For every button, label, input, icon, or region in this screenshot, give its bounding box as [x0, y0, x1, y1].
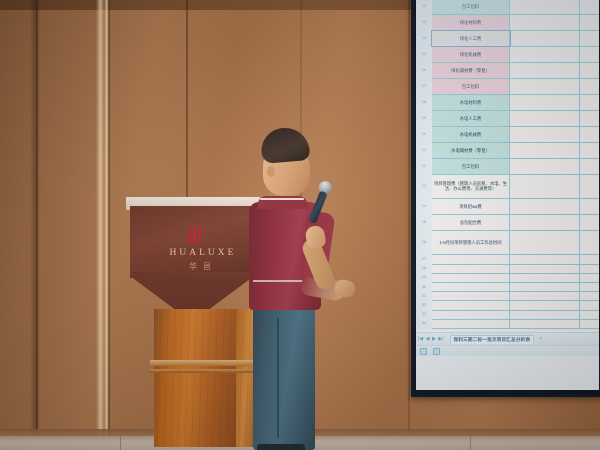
hotel-brand-latin: HUALUXE: [153, 248, 253, 258]
row-number[interactable]: 18: [416, 101, 432, 105]
wall-panel-seam: [408, 0, 410, 450]
cell-item-name[interactable]: 包工包料: [432, 79, 510, 94]
row-number[interactable]: 17: [416, 85, 432, 89]
cell-value[interactable]: [580, 0, 599, 14]
cell-value[interactable]: [580, 231, 599, 254]
row-header-gutter[interactable]: 1213141516171819202122232425262728293031…: [416, 0, 433, 329]
cell-value[interactable]: [510, 159, 580, 174]
floor-tile-line: [470, 436, 471, 450]
table-row[interactable]: 水电辅材费（零星）: [432, 143, 599, 159]
table-row[interactable]: 水电材料费: [432, 95, 599, 111]
table-row[interactable]: 水电机械费: [432, 127, 599, 143]
row-number[interactable]: 25: [416, 221, 432, 225]
cell-item-name[interactable]: [432, 311, 510, 319]
cell-item-name[interactable]: 绿化人工费: [432, 31, 510, 46]
cell-item-name[interactable]: [432, 292, 510, 300]
projection-screen: 1213141516171819202122232425262728293031…: [416, 0, 599, 390]
page-layout-icon[interactable]: [433, 348, 440, 355]
cell-value[interactable]: [510, 63, 580, 78]
table-row[interactable]: [432, 301, 599, 310]
cell-value[interactable]: [580, 143, 599, 158]
cell-item-name[interactable]: [432, 265, 510, 273]
table-row[interactable]: 水电人工费: [432, 111, 599, 127]
cell-value[interactable]: [580, 111, 599, 126]
cell-value[interactable]: [510, 231, 580, 254]
cell-value[interactable]: [580, 301, 599, 309]
cell-value[interactable]: [580, 47, 599, 62]
sheet-nav-buttons[interactable]: |◀ ◀ ▶ ▶|: [418, 337, 444, 342]
table-row[interactable]: 绿化材料费: [432, 15, 599, 31]
table-row[interactable]: [432, 320, 599, 329]
sheet-tab-bar[interactable]: |◀ ◀ ▶ ▶| 保利三期二标一批次项目汇总分析表 +: [416, 332, 599, 345]
cell-item-name[interactable]: 水电人工费: [432, 111, 510, 126]
row-number[interactable]: 33: [416, 313, 432, 317]
cell-value[interactable]: [580, 159, 599, 174]
row-number[interactable]: 16: [416, 69, 432, 73]
cell-item-name[interactable]: [432, 301, 510, 309]
cell-value[interactable]: [580, 255, 599, 263]
cell-item-name[interactable]: 包工包料: [432, 159, 510, 174]
cell-value[interactable]: [510, 143, 580, 158]
row-number[interactable]: 30: [416, 286, 432, 290]
presenter-trousers: [253, 304, 315, 450]
cell-item-name[interactable]: 包工包料: [432, 0, 510, 14]
cell-value[interactable]: [510, 274, 580, 282]
collar-stripe: [260, 198, 304, 200]
cell-value[interactable]: [510, 15, 580, 30]
row-number[interactable]: 26: [416, 241, 432, 245]
row-number[interactable]: 21: [416, 149, 432, 153]
cell-value[interactable]: [510, 215, 580, 230]
normal-view-icon[interactable]: [420, 348, 427, 355]
cell-value[interactable]: [580, 199, 599, 214]
table-row[interactable]: [432, 265, 599, 274]
cell-value[interactable]: [580, 175, 599, 198]
spreadsheet: 1213141516171819202122232425262728293031…: [416, 0, 599, 329]
cell-value[interactable]: [510, 283, 580, 291]
cell-value[interactable]: [580, 283, 599, 291]
next-sheet-icon[interactable]: ▶: [432, 337, 436, 342]
table-row[interactable]: 绿化机械费: [432, 47, 599, 63]
table-row[interactable]: 包工包料: [432, 159, 599, 175]
table-row[interactable]: [432, 292, 599, 301]
cell-value[interactable]: [510, 175, 580, 198]
cell-value[interactable]: [510, 47, 580, 62]
cell-item-name[interactable]: 水电机械费: [432, 127, 510, 142]
trouser-seam: [277, 318, 279, 438]
wood-grain-texture: [154, 309, 238, 447]
row-number[interactable]: 19: [416, 117, 432, 121]
add-sheet-icon[interactable]: +: [539, 336, 542, 342]
cell-value[interactable]: [510, 0, 580, 14]
cell-value[interactable]: [510, 292, 580, 300]
presenter-ear: [267, 166, 275, 177]
table-row[interactable]: [432, 274, 599, 283]
wall-panel-shadow: [30, 0, 40, 450]
cell-value[interactable]: [580, 274, 599, 282]
lectern-front-panel: HUALUXE 华邑: [130, 206, 254, 278]
cell-item-name[interactable]: 1-5月份项目管理人员工作总时间: [432, 231, 510, 254]
table-row[interactable]: 绿化人工费: [432, 31, 599, 47]
presenter: [243, 128, 358, 450]
cell-value[interactable]: [580, 31, 599, 46]
row-number[interactable]: 14: [416, 37, 432, 41]
cell-item-name[interactable]: [432, 255, 510, 263]
presenter-shoe: [257, 444, 305, 450]
cell-item-name[interactable]: 项目招жа费: [432, 199, 510, 214]
cell-value[interactable]: [580, 215, 599, 230]
first-sheet-icon[interactable]: |◀: [418, 337, 423, 342]
lectern-wood-column: [154, 309, 238, 447]
projection-screen-frame: 1213141516171819202122232425262728293031…: [411, 0, 600, 397]
status-bar[interactable]: [416, 345, 599, 356]
table-row[interactable]: 项目招жа费: [432, 199, 599, 215]
cell-value[interactable]: [580, 320, 599, 328]
cell-value[interactable]: [510, 199, 580, 214]
row-number[interactable]: 27: [416, 258, 432, 262]
cell-value[interactable]: [510, 265, 580, 273]
cell-value[interactable]: [510, 301, 580, 309]
cell-value[interactable]: [510, 255, 580, 263]
table-row[interactable]: [432, 311, 599, 320]
cell-value[interactable]: [580, 265, 599, 273]
cell-item-name[interactable]: 绿化材料费: [432, 15, 510, 30]
cell-value[interactable]: [580, 79, 599, 94]
cell-value[interactable]: [580, 95, 599, 110]
hualuxe-logo-icon: [188, 226, 202, 244]
table-row[interactable]: 包工包料: [432, 0, 599, 15]
photo-scene: 1213141516171819202122232425262728293031…: [0, 0, 600, 450]
cell-item-name[interactable]: [432, 274, 510, 282]
wall-panel-highlight: [96, 0, 105, 450]
table-row[interactable]: 包工包料: [432, 79, 599, 95]
cell-item-name[interactable]: [432, 283, 510, 291]
table-row[interactable]: 1-5月份项目管理人员工作总时间: [432, 231, 599, 255]
presenter-hair: [260, 126, 311, 164]
row-number[interactable]: 22: [416, 165, 432, 169]
row-number[interactable]: 32: [416, 304, 432, 308]
cell-item-name[interactable]: 水电辅材费（零星）: [432, 143, 510, 158]
table-row[interactable]: 总包配合费: [432, 215, 599, 231]
cell-value[interactable]: [580, 15, 599, 30]
cell-value[interactable]: [510, 311, 580, 319]
cell-value[interactable]: [510, 95, 580, 110]
prev-sheet-icon[interactable]: ◀: [426, 337, 430, 342]
row-number[interactable]: 34: [416, 322, 432, 326]
table-row[interactable]: 绿化辅材费（零星）: [432, 63, 599, 79]
row-number[interactable]: 20: [416, 133, 432, 137]
cell-value[interactable]: [510, 79, 580, 94]
last-sheet-icon[interactable]: ▶|: [438, 337, 443, 342]
lectern: HUALUXE 华邑: [118, 197, 263, 450]
cell-value[interactable]: [510, 320, 580, 328]
cell-item-name[interactable]: 绿化辅材费（零星）: [432, 63, 510, 78]
row-number[interactable]: 24: [416, 205, 432, 209]
sheet-tab[interactable]: 保利三期二标一批次项目汇总分析表: [450, 335, 535, 344]
table-row[interactable]: 项目管理费（管理人员房租、水电、生活、办公费用、交通费等）: [432, 175, 599, 199]
table-row[interactable]: [432, 283, 599, 292]
screen-lower-fill: [416, 356, 599, 390]
row-number[interactable]: 12: [416, 5, 432, 9]
cell-value[interactable]: [510, 31, 580, 46]
cell-item-name[interactable]: 水电材料费: [432, 95, 510, 110]
cell-item-name[interactable]: 项目管理费（管理人员房租、水电、生活、办公费用、交通费等）: [432, 175, 510, 198]
row-number[interactable]: 31: [416, 295, 432, 299]
row-number[interactable]: 15: [416, 53, 432, 57]
cell-value[interactable]: [580, 292, 599, 300]
cell-value[interactable]: [580, 311, 599, 319]
row-number[interactable]: 13: [416, 21, 432, 25]
hotel-brand-chinese: 华邑: [153, 261, 253, 272]
cell-value[interactable]: [580, 63, 599, 78]
cell-item-name[interactable]: 总包配合费: [432, 215, 510, 230]
row-number[interactable]: 29: [416, 276, 432, 280]
cell-value[interactable]: [510, 111, 580, 126]
cell-item-name[interactable]: 绿化机械费: [432, 47, 510, 62]
spreadsheet-grid[interactable]: 包工包料绿化材料费绿化人工费绿化机械费绿化辅材费（零星）包工包料水电材料费水电人…: [432, 0, 599, 329]
cell-item-name[interactable]: [432, 320, 510, 328]
cell-value[interactable]: [510, 127, 580, 142]
cell-value[interactable]: [580, 127, 599, 142]
row-number[interactable]: 23: [416, 185, 432, 189]
row-number[interactable]: 28: [416, 267, 432, 271]
table-row[interactable]: [432, 255, 599, 264]
